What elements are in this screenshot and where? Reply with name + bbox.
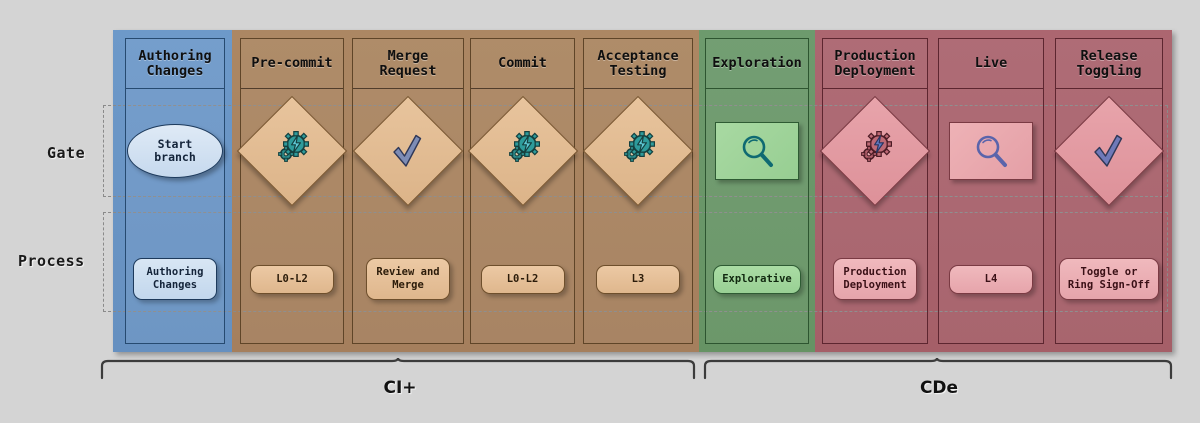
stage-header-merge-request: MergeRequest — [353, 39, 463, 89]
process-pill-pre-commit[interactable]: L0-L2 — [250, 265, 334, 294]
process-slot-acceptance-testing: L3 — [584, 244, 692, 314]
swimlane-label-gate: Gate — [47, 144, 85, 162]
process-slot-exploration: Explorative — [706, 244, 808, 314]
brace-label-ci-plus: CI+ — [100, 378, 700, 398]
magnifying-glass-icon — [738, 132, 776, 170]
stage-header-pre-commit: Pre-commit — [241, 39, 343, 89]
stage-header-acceptance-testing: AcceptanceTesting — [584, 39, 692, 89]
stage-body-authoring-changes: Startbranch AuthoringChanges — [126, 89, 224, 343]
process-pill-release-toggling[interactable]: Toggle orRing Sign-Off — [1059, 258, 1159, 300]
stage-body-commit: L0-L2 — [471, 89, 574, 343]
process-slot-live: L4 — [939, 244, 1043, 314]
gate-diamond-production-deployment[interactable] — [836, 112, 914, 190]
gate-slot-production-deployment — [823, 101, 927, 201]
gear-bolt-icon — [272, 132, 312, 170]
process-pill-authoring-changes[interactable]: AuthoringChanges — [133, 258, 217, 300]
gate-oval-start-branch[interactable]: Startbranch — [127, 124, 223, 178]
check-mark-icon — [1092, 133, 1126, 169]
gate-slot-commit — [471, 101, 574, 201]
process-pill-commit[interactable]: L0-L2 — [481, 265, 565, 294]
stage-header-release-toggling: ReleaseToggling — [1056, 39, 1162, 89]
process-slot-merge-request: Review andMerge — [353, 244, 463, 314]
stage-header-commit: Commit — [471, 39, 574, 89]
gate-diamond-pre-commit[interactable] — [253, 112, 331, 190]
process-slot-pre-commit: L0-L2 — [241, 244, 343, 314]
stage-body-exploration: Explorative — [706, 89, 808, 343]
stage-body-production-deployment: ProductionDeployment — [823, 89, 927, 343]
gate-rect-exploration[interactable] — [715, 122, 799, 180]
stage-column-release-toggling[interactable]: ReleaseToggling Toggle orRing Sign-Off — [1055, 38, 1163, 344]
gear-bolt-icon — [855, 132, 895, 170]
gate-diamond-commit[interactable] — [484, 112, 562, 190]
process-pill-acceptance-testing[interactable]: L3 — [596, 265, 680, 294]
stage-body-release-toggling: Toggle orRing Sign-Off — [1056, 89, 1162, 343]
process-slot-release-toggling: Toggle orRing Sign-Off — [1056, 244, 1162, 314]
stage-body-live: L4 — [939, 89, 1043, 343]
check-mark-icon — [391, 133, 425, 169]
gate-slot-pre-commit — [241, 101, 343, 201]
brace-label-cde: CDe — [703, 378, 1175, 398]
gate-slot-merge-request — [353, 101, 463, 201]
stage-column-exploration[interactable]: Exploration Explorative — [705, 38, 809, 344]
gear-bolt-icon — [618, 132, 658, 170]
brace-ci-plus — [100, 358, 700, 380]
gate-diamond-release-toggling[interactable] — [1070, 112, 1148, 190]
process-slot-authoring-changes: AuthoringChanges — [126, 244, 224, 314]
stage-body-merge-request: Review andMerge — [353, 89, 463, 343]
process-pill-merge-request[interactable]: Review andMerge — [366, 258, 450, 300]
stage-header-exploration: Exploration — [706, 39, 808, 89]
gate-slot-exploration — [706, 101, 808, 201]
stage-header-authoring-changes: AuthoringChanges — [126, 39, 224, 89]
stage-body-pre-commit: L0-L2 — [241, 89, 343, 343]
gate-slot-acceptance-testing — [584, 101, 692, 201]
gate-diamond-acceptance-testing[interactable] — [599, 112, 677, 190]
process-pill-exploration[interactable]: Explorative — [713, 265, 801, 294]
magnifying-glass-icon — [972, 132, 1010, 170]
process-slot-production-deployment: ProductionDeployment — [823, 244, 927, 314]
stage-column-acceptance-testing[interactable]: AcceptanceTesting — [583, 38, 693, 344]
stage-column-authoring-changes[interactable]: AuthoringChanges Startbranch AuthoringCh… — [125, 38, 225, 344]
gate-diamond-merge-request[interactable] — [369, 112, 447, 190]
stage-column-production-deployment[interactable]: ProductionDeployment — [822, 38, 928, 344]
gate-slot-live — [939, 101, 1043, 201]
stage-column-pre-commit[interactable]: Pre-commit — [240, 38, 344, 344]
stage-column-merge-request[interactable]: MergeRequest Review andMerge — [352, 38, 464, 344]
stage-header-live: Live — [939, 39, 1043, 89]
diagram-canvas: Gate Process AuthoringChanges Startbranc… — [0, 0, 1200, 423]
gate-rect-live[interactable] — [949, 122, 1033, 180]
gate-slot-release-toggling — [1056, 101, 1162, 201]
swimlane-label-process: Process — [18, 252, 85, 270]
stage-header-production-deployment: ProductionDeployment — [823, 39, 927, 89]
process-pill-production-deployment[interactable]: ProductionDeployment — [833, 258, 917, 300]
stage-column-commit[interactable]: Commit — [470, 38, 575, 344]
stage-body-acceptance-testing: L3 — [584, 89, 692, 343]
gear-bolt-icon — [503, 132, 543, 170]
process-slot-commit: L0-L2 — [471, 244, 574, 314]
gate-slot-authoring-changes: Startbranch — [126, 101, 224, 201]
stage-column-live[interactable]: Live L4 — [938, 38, 1044, 344]
brace-cde — [703, 358, 1175, 380]
process-pill-live[interactable]: L4 — [949, 265, 1033, 294]
